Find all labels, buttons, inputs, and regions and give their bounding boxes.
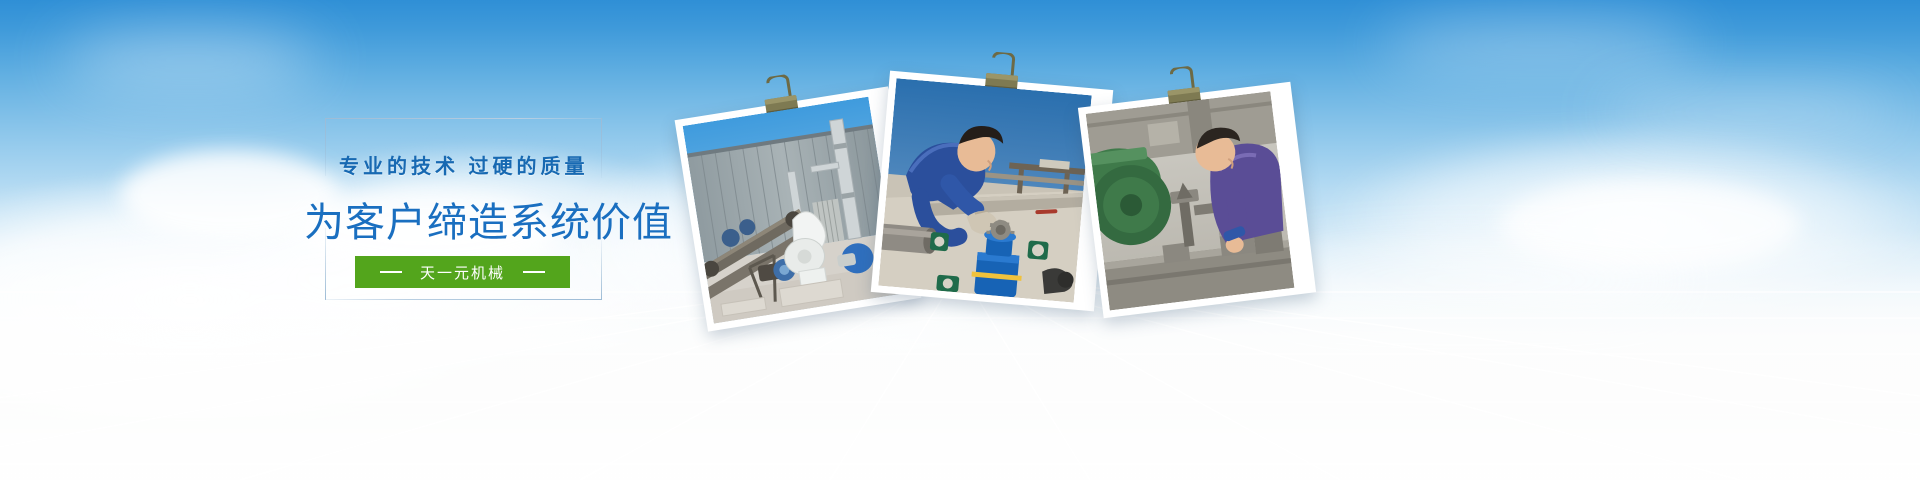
photo-image-worker-lathe [1086, 91, 1295, 310]
cta-label: 天一元机械 [420, 262, 505, 283]
brand-cta-button[interactable]: 天一元机械 [355, 256, 570, 288]
hero-text-block: 专业的技术 过硬的质量 为客户缔造系统价值 天一元机械 [325, 118, 602, 300]
hero-banner: 专业的技术 过硬的质量 为客户缔造系统价值 天一元机械 [0, 0, 1920, 480]
frame-border-bottom [325, 299, 602, 300]
hero-subtitle: 专业的技术 过硬的质量 [339, 150, 589, 179]
cloud-wisp-1 [60, 30, 320, 90]
photo-image-worker-gearbox [878, 78, 1091, 302]
frame-border-right-upper [601, 118, 602, 178]
hero-headline: 为客户缔造系统价值 [304, 190, 673, 248]
cloud-wisp-2 [1380, 18, 1700, 72]
cloud-streak-1 [1600, 95, 1900, 129]
photo-image-factory-equipment [683, 97, 900, 324]
photo-card-worker-gearbox[interactable] [871, 71, 1113, 312]
frame-border-left-upper [325, 118, 326, 176]
cta-dash-left-icon [380, 271, 402, 273]
photo-card-worker-lathe[interactable] [1078, 82, 1316, 318]
cloud-puff-3 [1500, 180, 1800, 270]
photo-collage [690, 60, 1330, 360]
frame-border-top [325, 118, 602, 119]
cta-dash-right-icon [523, 271, 545, 273]
frame-border-right-lower [601, 240, 602, 300]
